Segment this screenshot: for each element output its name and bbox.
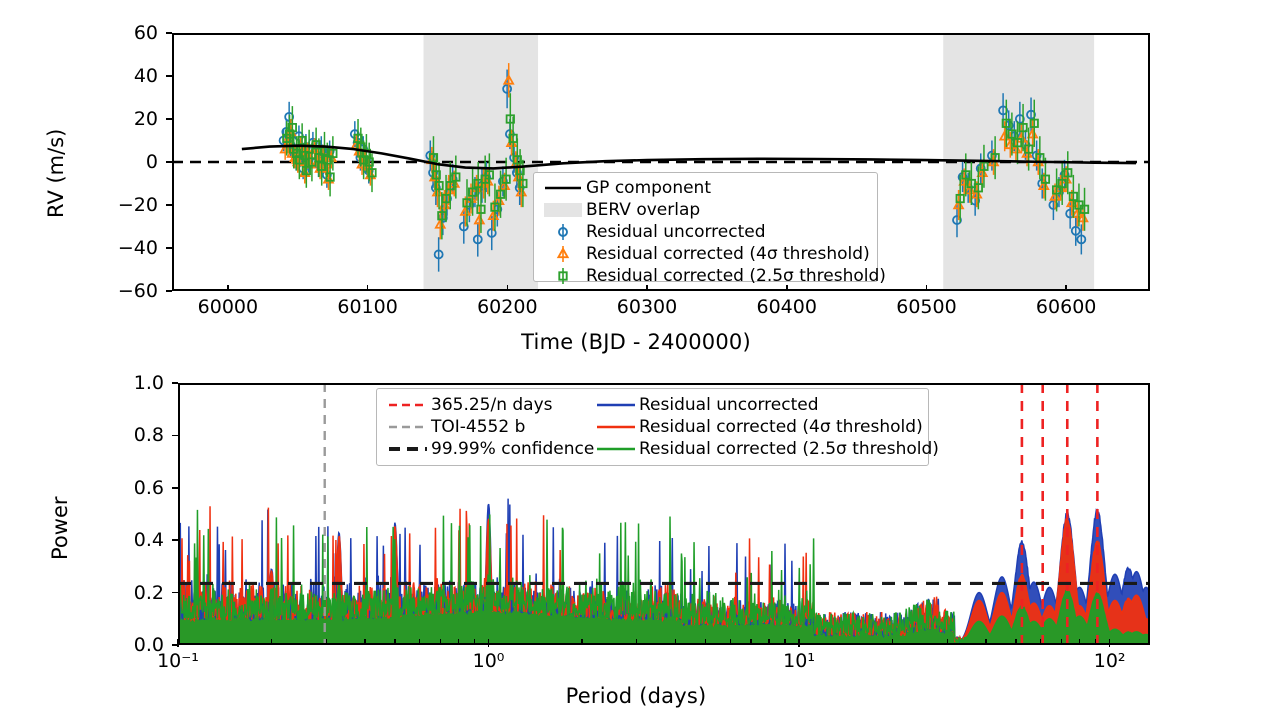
legend-item: 99.99% confidence — [385, 438, 593, 460]
y-tick-label: 0.0 — [86, 634, 164, 656]
x-tick-label: 60300 — [617, 296, 677, 318]
y-tick — [166, 32, 172, 34]
top-panel-legend: GP componentBERV overlapResidual uncorre… — [533, 172, 878, 282]
y-tick — [172, 382, 178, 384]
x-tick-major — [798, 639, 800, 647]
x-tick-label: 60500 — [896, 296, 956, 318]
legend-marker-line — [540, 177, 586, 199]
x-tick-major — [1109, 639, 1111, 647]
legend-label: BERV overlap — [586, 199, 700, 221]
legend-marker-patch — [540, 199, 586, 221]
x-tick-minor — [947, 639, 948, 643]
legend-column: 365.25/n daysTOI-4552 b99.99% confidence — [385, 393, 593, 461]
x-tick-minor — [730, 639, 731, 643]
top-panel-x-axis-label: Time (BJD - 2400000) — [0, 330, 1272, 354]
bottom-panel-y-axis-label: Power — [48, 497, 72, 561]
y-tick — [166, 290, 172, 292]
x-tick-minor — [705, 639, 706, 643]
berv-overlap-band — [423, 33, 538, 291]
legend-marker-dashed-thick — [385, 438, 431, 460]
x-tick-minor — [768, 639, 769, 643]
x-tick-label: 10¹ — [783, 650, 815, 672]
legend-item: BERV overlap — [540, 199, 871, 221]
x-tick — [926, 285, 928, 291]
y-tick-label: −60 — [80, 280, 158, 302]
y-tick — [172, 592, 178, 594]
x-tick-minor — [581, 639, 582, 643]
x-tick-label: 60200 — [477, 296, 537, 318]
berv-overlap-band — [943, 33, 1094, 291]
x-tick — [227, 285, 229, 291]
x-tick-minor — [419, 639, 420, 643]
legend-label: 99.99% confidence — [431, 438, 594, 460]
legend-column: Residual uncorrectedResidual corrected (… — [593, 393, 933, 461]
legend-marker-dashed — [385, 394, 431, 416]
legend-label: Residual corrected (2.5σ threshold) — [586, 265, 886, 287]
y-tick — [172, 539, 178, 541]
legend-label: TOI-4552 b — [431, 416, 525, 438]
x-tick — [507, 285, 509, 291]
legend-item: Residual corrected (2.5σ threshold) — [593, 438, 933, 460]
legend-item: Residual corrected (4σ threshold) — [540, 243, 871, 265]
x-tick-minor — [985, 639, 986, 643]
x-tick-label: 60000 — [198, 296, 258, 318]
x-tick-minor — [394, 639, 395, 643]
x-tick-minor — [1040, 639, 1041, 643]
x-tick-minor — [271, 639, 272, 643]
y-tick-label: 0.4 — [86, 529, 164, 551]
y-tick-label: 0 — [80, 151, 158, 173]
periodogram-legend: 365.25/n daysTOI-4552 b99.99% confidence… — [376, 388, 929, 466]
gp-component-line — [242, 146, 1136, 169]
x-tick-minor — [1015, 639, 1016, 643]
legend-label: GP component — [586, 177, 711, 199]
x-tick-major — [488, 639, 490, 647]
y-tick-label: 40 — [80, 65, 158, 87]
x-tick-minor — [1061, 639, 1062, 643]
periodogram-fill-uncorrected — [178, 499, 1150, 645]
periodogram-line-uncorrected — [178, 499, 1150, 641]
top-panel-y-axis-label: RV (m/s) — [44, 129, 68, 218]
y-tick — [172, 487, 178, 489]
legend-marker-circle — [540, 221, 586, 243]
x-tick-minor — [892, 639, 893, 643]
x-tick-label: 10⁻¹ — [157, 650, 199, 672]
x-tick — [1065, 285, 1067, 291]
x-tick-label: 60600 — [1036, 296, 1096, 318]
y-tick-label: −40 — [80, 237, 158, 259]
x-tick-major — [177, 639, 179, 647]
legend-marker-triangle — [540, 243, 586, 265]
legend-item: Residual uncorrected — [593, 394, 933, 416]
x-tick — [367, 285, 369, 291]
legend-marker-dashed — [385, 416, 431, 438]
bottom-panel-x-axis-label: Period (days) — [0, 684, 1272, 708]
legend-label: Residual corrected (2.5σ threshold) — [639, 438, 939, 460]
legend-marker-square — [540, 265, 586, 287]
x-tick-minor — [474, 639, 475, 643]
y-tick-label: 1.0 — [86, 372, 164, 394]
y-tick — [166, 161, 172, 163]
legend-label: Residual uncorrected — [586, 221, 766, 243]
y-tick-label: −20 — [80, 194, 158, 216]
legend-label: 365.25/n days — [431, 394, 553, 416]
legend-marker-line — [593, 438, 639, 460]
y-tick — [166, 75, 172, 77]
legend-label: Residual corrected (4σ threshold) — [639, 416, 923, 438]
x-tick-label: 10² — [1094, 650, 1126, 672]
y-tick-label: 0.8 — [86, 424, 164, 446]
x-tick-minor — [364, 639, 365, 643]
x-tick-minor — [675, 639, 676, 643]
periodogram-fill-4sigma — [178, 506, 1150, 645]
x-tick-minor — [750, 639, 751, 643]
legend-item: GP component — [540, 177, 871, 199]
x-tick-label: 10⁰ — [473, 650, 505, 672]
y-tick — [166, 204, 172, 206]
x-tick-minor — [1079, 639, 1080, 643]
y-tick-label: 0.6 — [86, 477, 164, 499]
x-tick-label: 60400 — [757, 296, 817, 318]
x-tick-minor — [784, 639, 785, 643]
legend-label: Residual corrected (4σ threshold) — [586, 243, 870, 265]
x-tick-minor — [636, 639, 637, 643]
y-tick — [166, 247, 172, 249]
periodogram-line-25sigma — [178, 510, 1150, 642]
periodogram-fill-25sigma — [178, 510, 1150, 645]
x-tick-minor — [326, 639, 327, 643]
legend-marker-line — [593, 394, 639, 416]
y-tick-label: 60 — [80, 22, 158, 44]
y-tick-label: 20 — [80, 108, 158, 130]
legend-item: 365.25/n days — [385, 394, 593, 416]
legend-label: Residual uncorrected — [639, 394, 819, 416]
legend-item: Residual corrected (2.5σ threshold) — [540, 265, 871, 287]
y-tick — [166, 118, 172, 120]
legend-item: TOI-4552 b — [385, 416, 593, 438]
figure-root: −60−40−200204060 60000601006020060300604… — [0, 0, 1272, 720]
legend-item: Residual uncorrected — [540, 221, 871, 243]
x-tick-minor — [1095, 639, 1096, 643]
x-tick-minor — [458, 639, 459, 643]
y-tick-label: 0.2 — [86, 582, 164, 604]
periodogram-line-4sigma — [178, 506, 1150, 642]
x-tick-minor — [440, 639, 441, 643]
y-tick — [172, 435, 178, 437]
legend-marker-line — [593, 416, 639, 438]
x-tick-label: 60100 — [337, 296, 397, 318]
legend-item: Residual corrected (4σ threshold) — [593, 416, 933, 438]
